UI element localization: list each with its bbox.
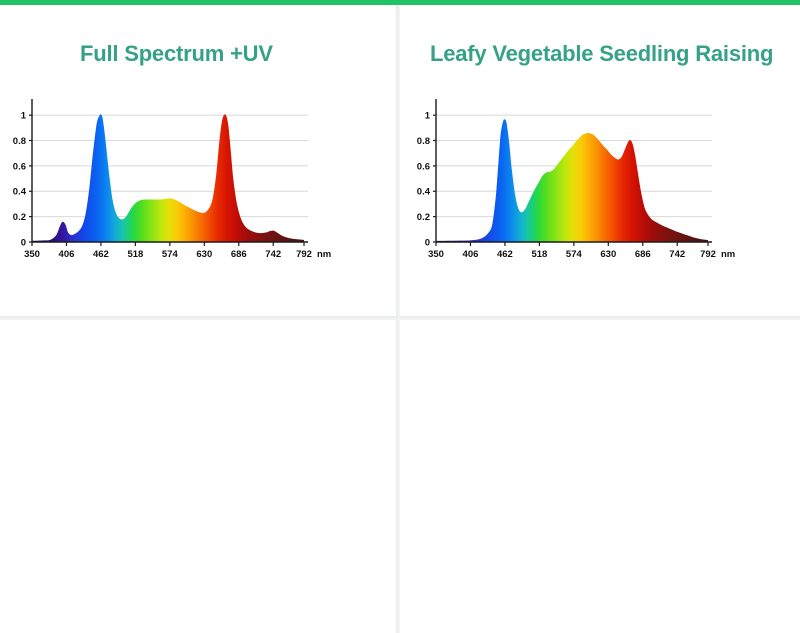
y-tick-label: 0 (21, 237, 26, 248)
spectrum-panels-page: Full Spectrum +UV 00.20.40.60.8135040646… (0, 0, 800, 633)
y-tick-label: 0.4 (13, 187, 27, 198)
x-tick-label: 574 (566, 249, 583, 260)
x-tick-label: 462 (497, 249, 513, 260)
y-tick-label: 0.2 (417, 212, 430, 223)
x-tick-label: 518 (531, 249, 547, 260)
x-tick-label: 406 (463, 249, 479, 260)
y-tick-label: 0.6 (13, 161, 26, 172)
x-tick-label: 792 (296, 249, 312, 260)
x-tick-label: 406 (59, 249, 75, 260)
x-tick-label: 630 (600, 249, 616, 260)
y-tick-label: 0.8 (13, 136, 26, 147)
card-title: Leafy Vegetable Seedling Raising (430, 41, 773, 67)
y-tick-label: 0 (425, 237, 430, 248)
spectrum-card-full-spectrum-uv[interactable]: Full Spectrum +UV 00.20.40.60.8135040646… (0, 5, 398, 318)
y-tick-label: 0.8 (417, 136, 430, 147)
x-tick-label: 742 (669, 249, 685, 260)
x-tick-label: 630 (196, 249, 212, 260)
x-tick-label: 686 (635, 249, 651, 260)
y-tick-label: 1 (425, 111, 431, 122)
y-tick-label: 1 (21, 111, 27, 122)
x-axis-unit-label: nm (317, 249, 331, 260)
y-tick-label: 0.6 (417, 161, 430, 172)
spectrum-chart-1: 00.20.40.60.8135040646251857463068674279… (410, 93, 750, 268)
x-axis-unit-label: nm (721, 249, 735, 260)
spectrum-chart-0: 00.20.40.60.8135040646251857463068674279… (6, 93, 346, 268)
spectrum-card-flower-supplementary-lighting[interactable]: Flower Supplementary Lighting 00.20.40.6… (0, 318, 398, 633)
spectrum-svg: 00.20.40.60.8135040646251857463068674279… (410, 93, 750, 268)
x-tick-label: 350 (24, 249, 40, 260)
panel-grid: Full Spectrum +UV 00.20.40.60.8135040646… (0, 5, 800, 633)
x-tick-label: 792 (700, 249, 716, 260)
spectrum-card-leafy-vegetable-seedling-raising[interactable]: Leafy Vegetable Seedling Raising 00.20.4… (398, 5, 800, 318)
spectrum-card-double-red-and-blue-wave-peak[interactable]: Double Red and Blue Wave Peak evo 00.20.… (398, 318, 800, 633)
x-tick-label: 574 (162, 249, 179, 260)
y-tick-label: 0.2 (13, 212, 26, 223)
y-tick-label: 0.4 (417, 187, 431, 198)
x-tick-label: 350 (428, 249, 444, 260)
spectrum-svg: 00.20.40.60.8135040646251857463068674279… (6, 93, 346, 268)
x-tick-label: 462 (93, 249, 109, 260)
card-title: Full Spectrum +UV (80, 41, 273, 67)
spectrum-area (32, 115, 304, 242)
x-tick-label: 742 (265, 249, 281, 260)
x-tick-label: 518 (127, 249, 143, 260)
x-tick-label: 686 (231, 249, 247, 260)
spectrum-area (436, 120, 708, 242)
